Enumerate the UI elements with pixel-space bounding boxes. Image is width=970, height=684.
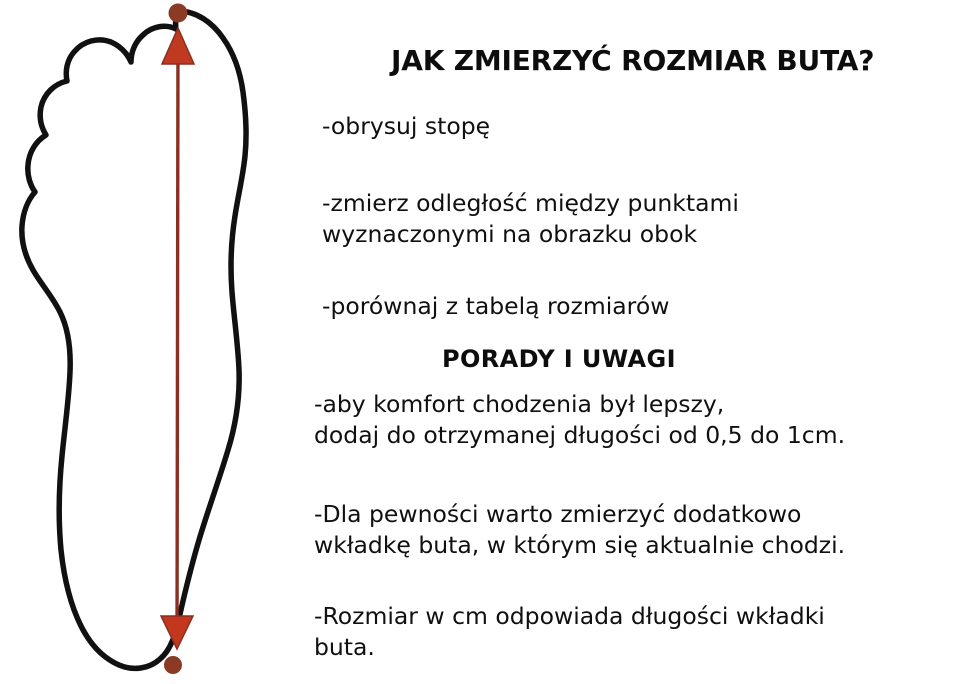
shoe-size-guide-page: JAK ZMIERZYĆ ROZMIAR BUTA? -obrysuj stop… <box>0 0 970 684</box>
bottom-measurement-point-marker <box>164 656 182 674</box>
tip-size-equals-insole-length: -Rozmiar w cm odpowiada długości wkładki… <box>314 601 825 663</box>
measurement-arrow-shaft <box>177 32 178 644</box>
tip-measure-insole: -Dla pewności warto zmierzyć dodatkowo w… <box>314 499 845 561</box>
top-measurement-point-marker <box>169 4 188 23</box>
foot-outline-svg <box>0 0 300 684</box>
instructions-column: JAK ZMIERZYĆ ROZMIAR BUTA? -obrysuj stop… <box>300 0 970 684</box>
step-measure-distance: -zmierz odległość między punktami wyznac… <box>322 188 739 250</box>
tip-add-comfort-margin: -aby komfort chodzenia był lepszy, dodaj… <box>314 389 845 451</box>
step-outline-foot: -obrysuj stopę <box>322 111 490 142</box>
foot-illustration <box>0 0 300 684</box>
tips-heading: PORADY I UWAGI <box>442 345 676 373</box>
page-title: JAK ZMIERZYĆ ROZMIAR BUTA? <box>391 44 874 77</box>
foot-outline-path <box>22 11 246 668</box>
step-compare-size-table: -porównaj z tabelą rozmiarów <box>322 291 669 322</box>
